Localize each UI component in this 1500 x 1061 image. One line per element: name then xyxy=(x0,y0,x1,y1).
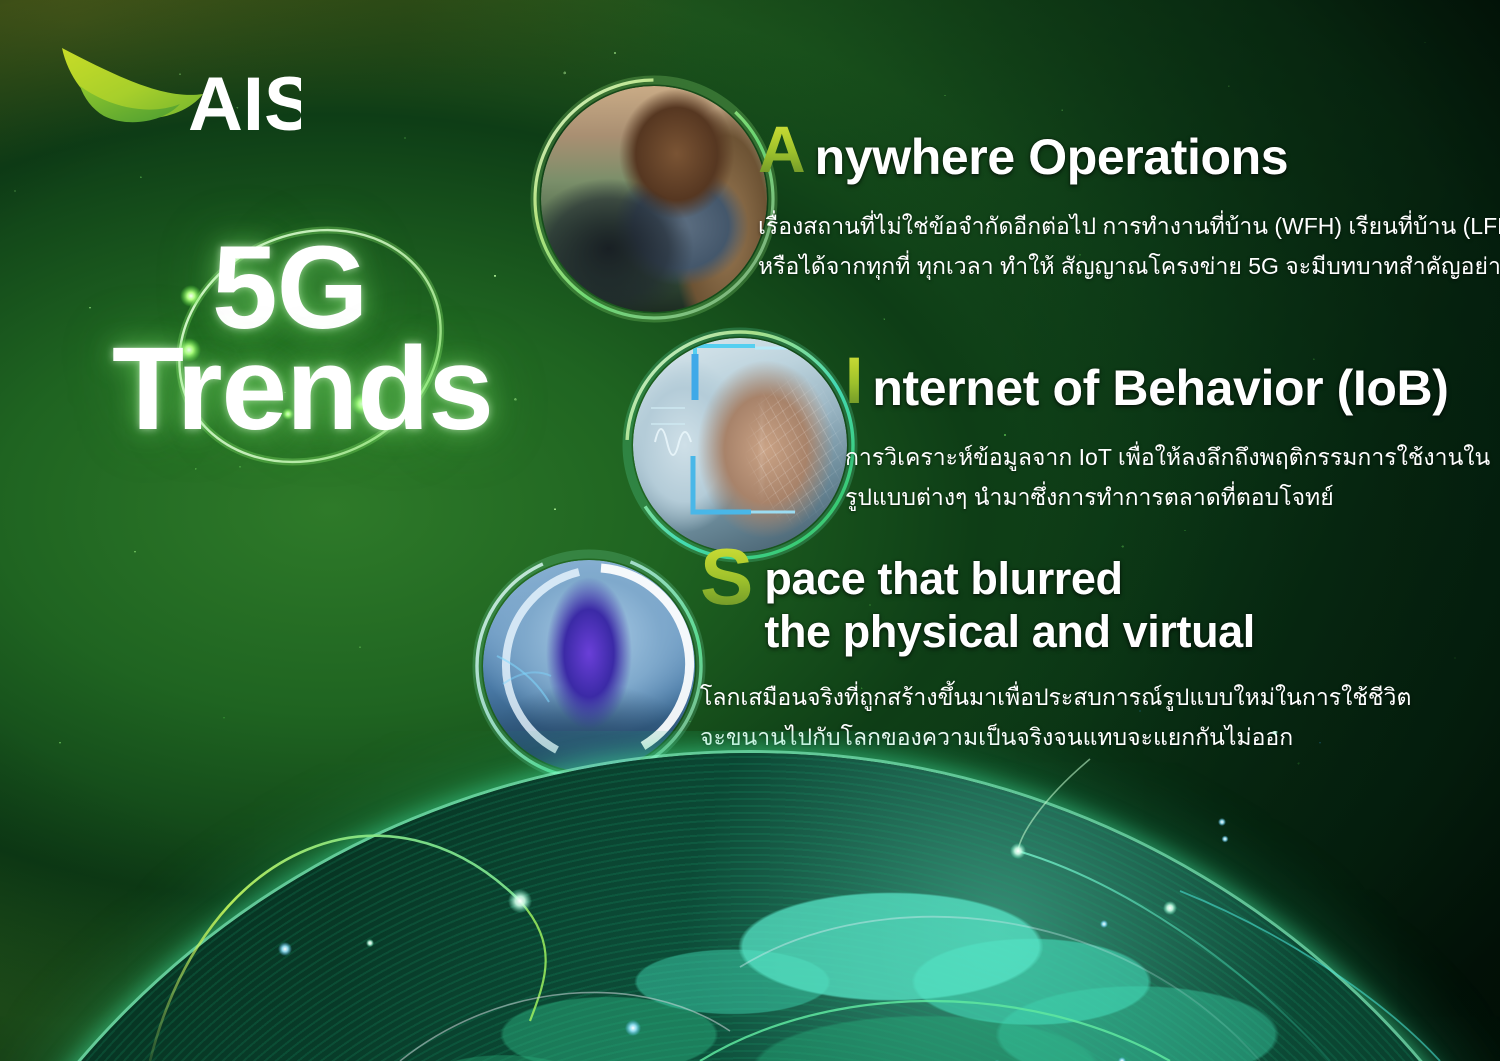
trend-body-line: รูปแบบต่างๆ นำมาซึ่งการทำการตลาดที่ตอบโจ… xyxy=(845,478,1495,518)
trend-title: pace that blurred the physical and virtu… xyxy=(764,553,1255,658)
trend-anywhere-operations: A nywhere Operations เรื่องสถานที่ไม่ใช่… xyxy=(758,131,1488,286)
trend-title-line2: the physical and virtual xyxy=(764,606,1255,659)
bubble-ring-2 xyxy=(620,325,860,565)
trend-body: เรื่องสถานที่ไม่ใช่ข้อจำกัดอีกต่อไป การท… xyxy=(758,207,1488,286)
trend-title: nternet of Behavior (IoB) xyxy=(872,362,1448,415)
trend-body: การวิเคราะห์ข้อมูลจาก IoT เพื่อให้ลงลึกถ… xyxy=(845,438,1495,517)
trend-body-line: เรื่องสถานที่ไม่ใช่ข้อจำกัดอีกต่อไป การท… xyxy=(758,207,1488,247)
ais-logo: AIS xyxy=(46,30,301,134)
network-node xyxy=(1272,731,1278,735)
trend-capital-letter: S xyxy=(700,541,753,613)
trend-capital-letter: A xyxy=(758,120,806,179)
trend-body-line: โลกเสมือนจริงที่ถูกสร้างขึ้นมาเพื่อประสบ… xyxy=(700,677,1380,717)
trend-title: nywhere Operations xyxy=(815,131,1289,184)
globe-rim-light xyxy=(0,753,1500,1061)
earth-globe-network xyxy=(0,731,1500,1061)
network-node xyxy=(1218,818,1226,826)
trend-title-line1: pace that blurred xyxy=(764,553,1255,606)
network-node xyxy=(1222,836,1229,843)
trend-internet-of-behavior: I nternet of Behavior (IoB) การวิเคราะห์… xyxy=(845,362,1495,517)
hero-title: 5G Trends xyxy=(112,238,582,488)
trend-body-line: การวิเคราะห์ข้อมูลจาก IoT เพื่อให้ลงลึกถ… xyxy=(845,438,1495,478)
hero-line-trends: Trends xyxy=(112,339,582,440)
bubble-ring-1 xyxy=(528,73,780,325)
trend-space-that-blurred: S pace that blurred the physical and vir… xyxy=(700,553,1380,757)
ais-logo-wordmark: AIS xyxy=(188,62,301,134)
infographic-poster: AIS 5G Trends xyxy=(0,0,1500,1061)
trend-capital-letter: I xyxy=(845,351,863,410)
globe-sphere xyxy=(0,753,1500,1061)
trend-body-line: หรือได้จากทุกที่ ทุกเวลา ทำให้ สัญญาณโคร… xyxy=(758,247,1488,287)
